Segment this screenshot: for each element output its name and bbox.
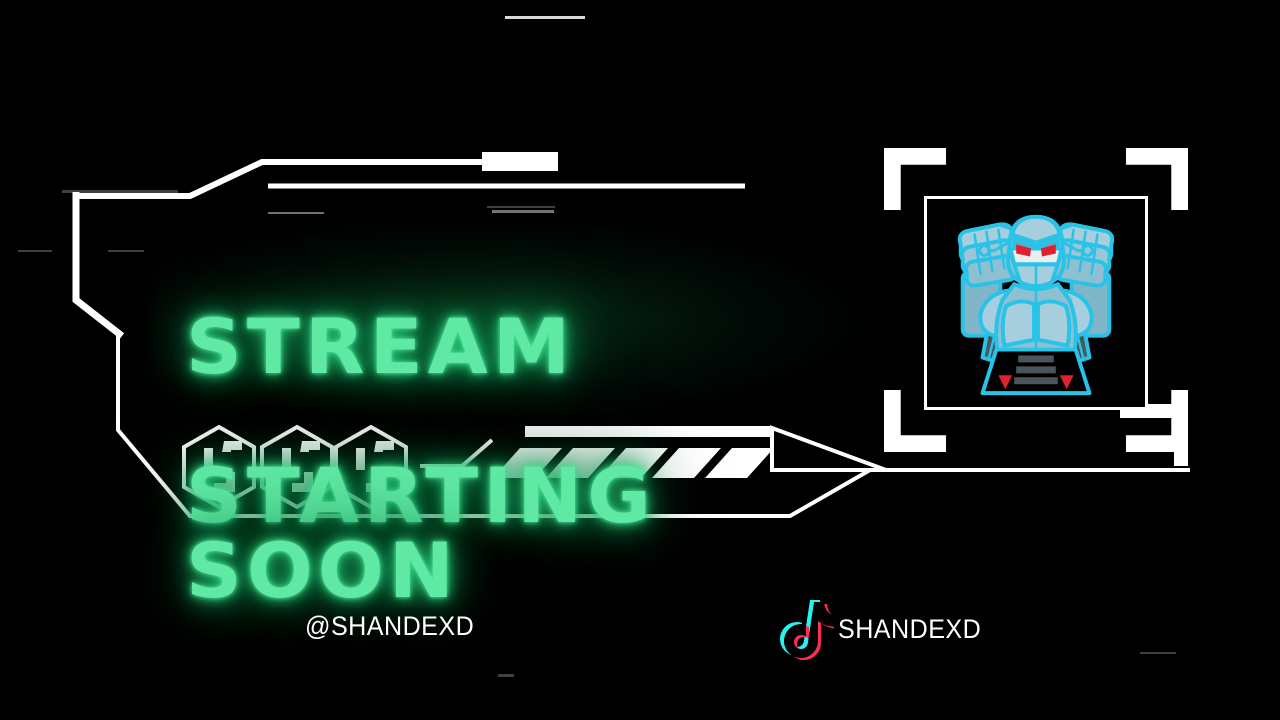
- avatar-frame: [884, 148, 1188, 452]
- tiktok-credit: SHANDEXD: [778, 598, 992, 660]
- glitch-sliver-d: [108, 250, 144, 252]
- glitch-sliver-h: [62, 190, 178, 193]
- glitch-sliver-b: [492, 210, 554, 213]
- glitch-sliver-g: [498, 674, 514, 677]
- glitch-sliver-e: [487, 206, 555, 208]
- avatar-image-box: [924, 196, 1148, 410]
- headline-line-2: STARTING SOON: [186, 459, 900, 608]
- headline-line-1: STREAM: [186, 310, 900, 384]
- hud-top-block: [482, 152, 558, 171]
- tiktok-username: SHANDEXD: [838, 614, 981, 645]
- stream-overlay-canvas: STREAM STARTING SOON: [0, 0, 1280, 720]
- glitch-sliver-f: [1140, 652, 1176, 654]
- hud-top-rail: [78, 162, 745, 196]
- tiktok-icon: [778, 598, 834, 660]
- glitch-sliver-a: [268, 212, 324, 214]
- robot-mech-icon: [927, 199, 1145, 407]
- glitch-sliver-c: [18, 250, 52, 252]
- handle-text: @SHANDEXD: [305, 611, 474, 642]
- glitch-sliver-top: [505, 16, 585, 19]
